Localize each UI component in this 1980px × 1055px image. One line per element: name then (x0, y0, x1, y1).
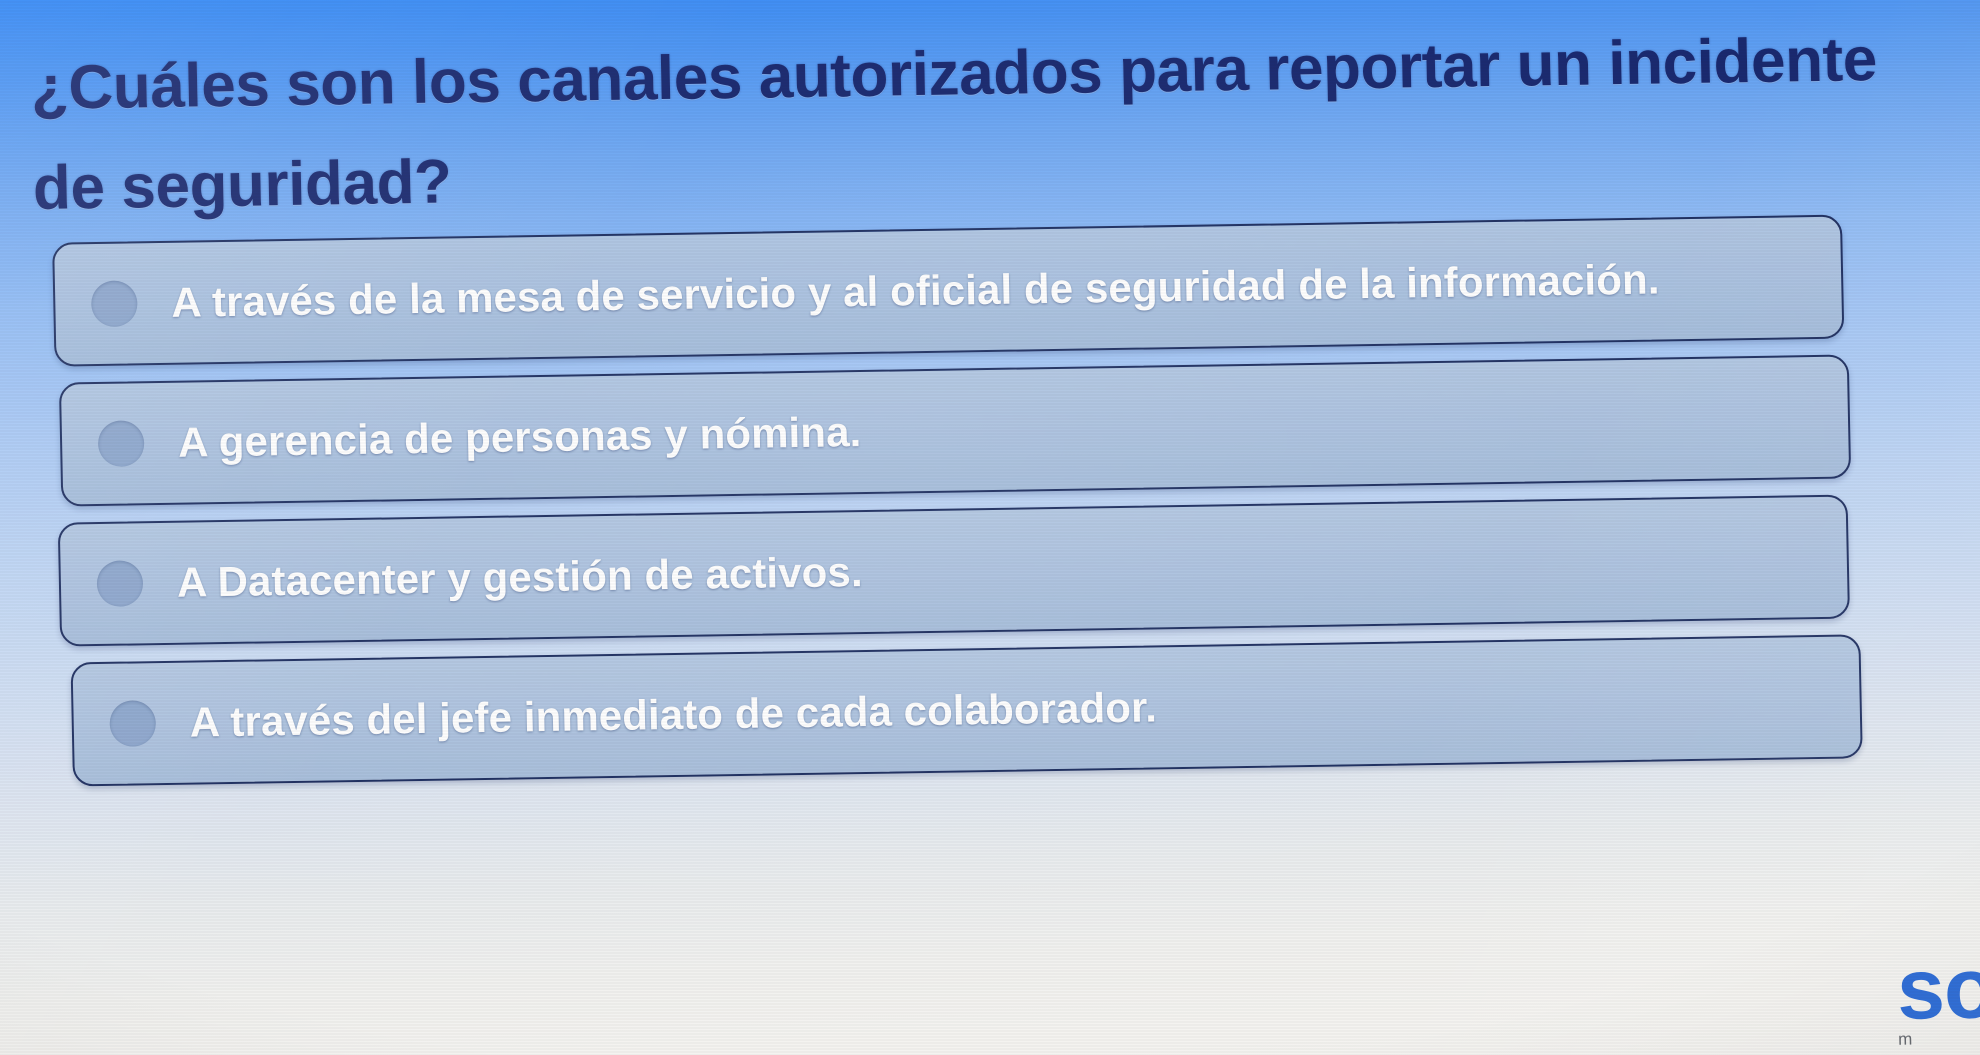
answer-option-4[interactable]: A través del jefe inmediato de cada cola… (71, 634, 1863, 786)
answer-option-2[interactable]: A gerencia de personas y nómina. (59, 355, 1851, 507)
content-plane: ¿Cuáles son los canales autorizados para… (0, 0, 1980, 1055)
quiz-screen: ¿Cuáles son los canales autorizados para… (0, 0, 1980, 1055)
radio-button-unselected-icon[interactable] (91, 280, 138, 327)
radio-button-unselected-icon[interactable] (109, 700, 156, 747)
brand-logo-text: so (1896, 941, 1980, 1039)
answer-option-label: A través del jefe inmediato de cada cola… (189, 673, 1157, 756)
answer-option-1[interactable]: A través de la mesa de servicio y al ofi… (52, 215, 1844, 367)
answer-option-label: A Datacenter y gestión de activos. (176, 538, 863, 617)
answer-option-label: A gerencia de personas y nómina. (177, 398, 861, 477)
answer-option-3[interactable]: A Datacenter y gestión de activos. (58, 495, 1850, 647)
answer-option-label: A través de la mesa de servicio y al ofi… (171, 245, 1660, 336)
answer-options-list: A través de la mesa de servicio y al ofi… (42, 213, 1937, 803)
question-text: ¿Cuáles son los canales autorizados para… (30, 10, 1894, 240)
radio-button-unselected-icon[interactable] (98, 420, 145, 467)
radio-button-unselected-icon[interactable] (96, 560, 143, 607)
brand-logo: so m (1896, 951, 1980, 1047)
